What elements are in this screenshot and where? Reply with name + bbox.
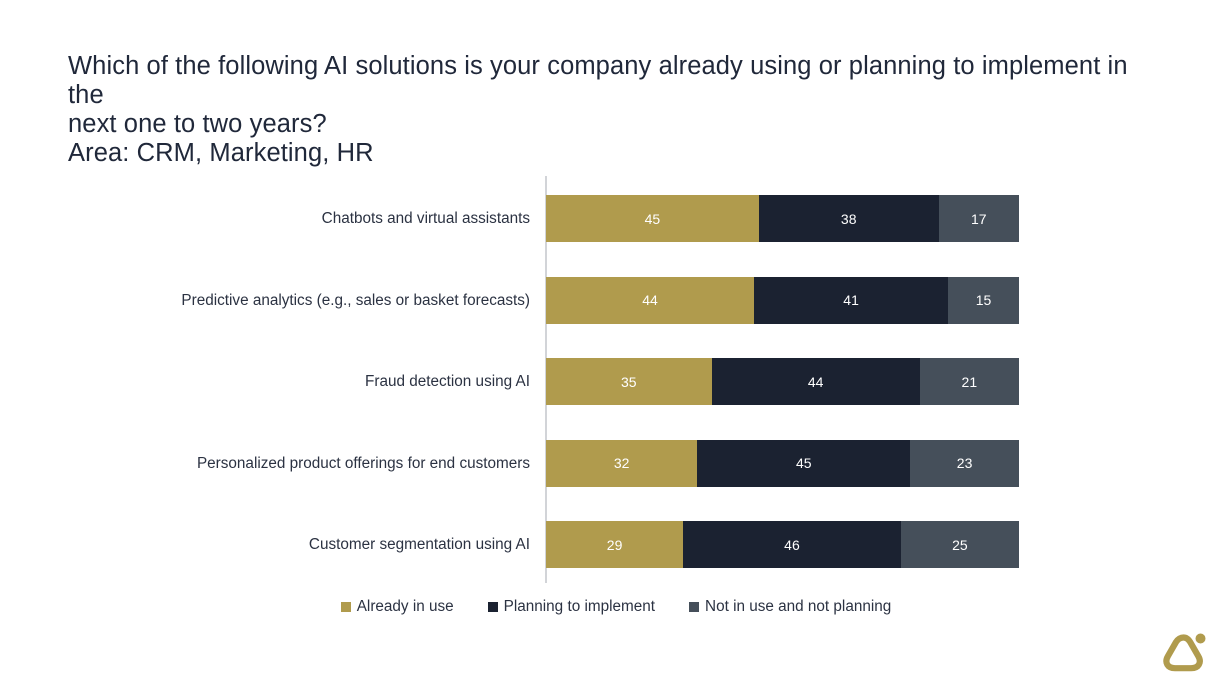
chart-row: Customer segmentation using AI294625	[0, 521, 1232, 568]
legend-label: Planning to implement	[504, 598, 655, 616]
bar-segment: 21	[920, 358, 1019, 405]
title-line-2: next one to two years?	[68, 110, 1143, 139]
legend-swatch-icon	[341, 602, 351, 612]
chart-row: Personalized product offerings for end c…	[0, 440, 1232, 487]
bar-segment: 45	[697, 440, 910, 487]
category-label: Fraud detection using AI	[365, 358, 530, 405]
bar-segment: 29	[546, 521, 683, 568]
bar-segment: 23	[910, 440, 1019, 487]
bar-segment: 35	[546, 358, 712, 405]
bar-segment: 38	[759, 195, 939, 242]
title-line-1: Which of the following AI solutions is y…	[68, 52, 1143, 110]
chart-row: Fraud detection using AI354421	[0, 358, 1232, 405]
legend-item[interactable]: Already in use	[341, 598, 454, 616]
legend-label: Not in use and not planning	[705, 598, 891, 616]
bar-segment: 41	[754, 277, 948, 324]
chart-row: Predictive analytics (e.g., sales or bas…	[0, 277, 1232, 324]
legend-label: Already in use	[357, 598, 454, 616]
bar-segment: 32	[546, 440, 697, 487]
category-label: Chatbots and virtual assistants	[322, 195, 530, 242]
category-label: Predictive analytics (e.g., sales or bas…	[181, 277, 530, 324]
stacked-bar: 294625	[546, 521, 1019, 568]
bar-segment: 44	[712, 358, 920, 405]
legend-item[interactable]: Not in use and not planning	[689, 598, 891, 616]
bar-segment: 46	[683, 521, 901, 568]
bar-segment: 25	[901, 521, 1019, 568]
stacked-bar: 324523	[546, 440, 1019, 487]
title-line-3: Area: CRM, Marketing, HR	[68, 139, 1143, 168]
legend-swatch-icon	[689, 602, 699, 612]
company-logo	[1154, 624, 1214, 678]
logo-dot-icon	[1196, 634, 1206, 644]
chart-row: Chatbots and virtual assistants453817	[0, 195, 1232, 242]
logo-triangle-icon	[1166, 638, 1199, 669]
bar-segment: 17	[939, 195, 1019, 242]
bar-segment: 45	[546, 195, 759, 242]
bar-segment: 44	[546, 277, 754, 324]
stacked-bar: 354421	[546, 358, 1019, 405]
bar-segment: 15	[948, 277, 1019, 324]
page-title: Which of the following AI solutions is y…	[68, 52, 1143, 168]
stacked-bar-chart: Chatbots and virtual assistants453817Pre…	[0, 176, 1232, 586]
chart-rows: Chatbots and virtual assistants453817Pre…	[0, 176, 1232, 583]
category-label: Customer segmentation using AI	[309, 521, 530, 568]
legend-swatch-icon	[488, 602, 498, 612]
chart-legend: Already in usePlanning to implementNot i…	[0, 598, 1232, 616]
legend-item[interactable]: Planning to implement	[488, 598, 655, 616]
stacked-bar: 453817	[546, 195, 1019, 242]
category-label: Personalized product offerings for end c…	[197, 440, 530, 487]
stacked-bar: 444115	[546, 277, 1019, 324]
